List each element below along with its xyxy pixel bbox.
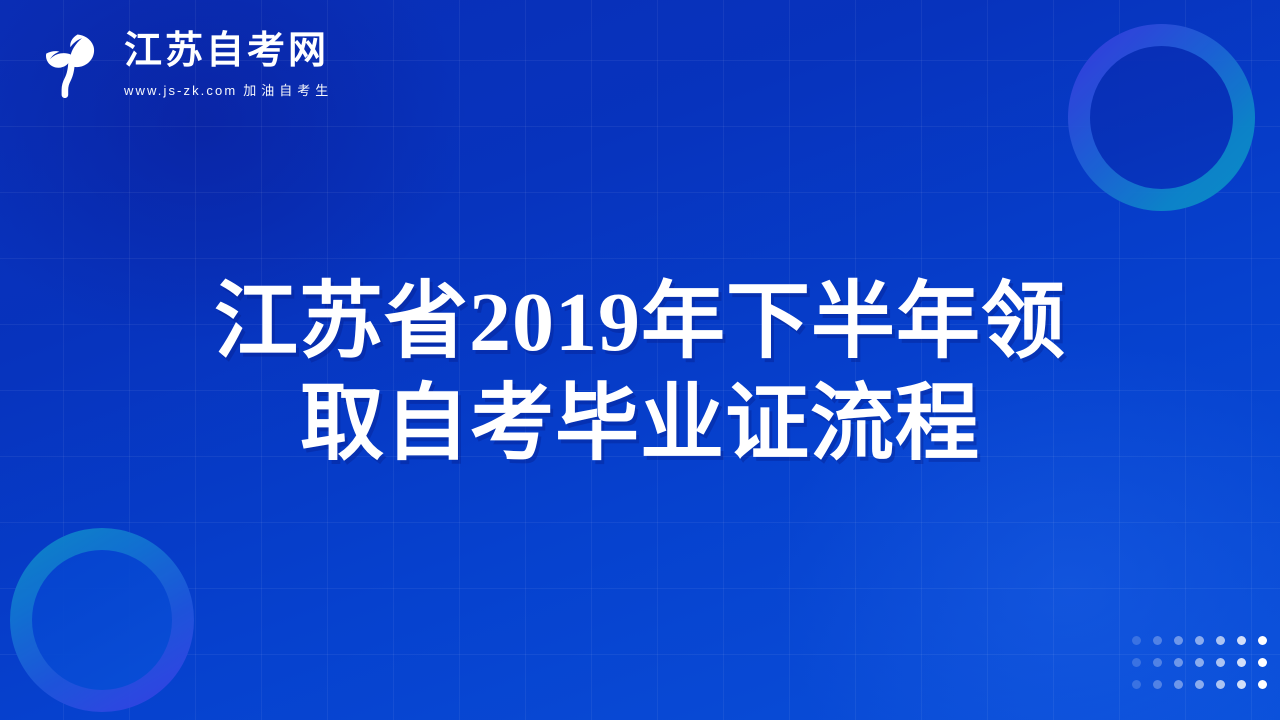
- page-title-line-1: 江苏省2019年下半年领: [150, 272, 1130, 374]
- logo-tagline-slogan: 加油自考生: [243, 83, 333, 98]
- ring-inner-mask: [1090, 46, 1233, 189]
- logo-tagline: www.js-zk.com加油自考生: [124, 80, 333, 99]
- logo-tagline-url: www.js-zk.com: [124, 83, 237, 98]
- page-title-line-2: 取自考毕业证流程: [150, 374, 1130, 476]
- decorative-ring-bottom-left: [10, 528, 194, 712]
- sprout-icon: [36, 28, 110, 102]
- decorative-dot-grid: [1132, 636, 1279, 702]
- logo-wordmark: 江苏自考网: [124, 31, 333, 72]
- poster-canvas: 江苏自考网 www.js-zk.com加油自考生 江苏省2019年下半年领 取自…: [0, 0, 1280, 720]
- page-title: 江苏省2019年下半年领 取自考毕业证流程: [0, 272, 1280, 477]
- site-logo[interactable]: 江苏自考网 www.js-zk.com加油自考生: [36, 28, 333, 102]
- ring-inner-mask: [32, 550, 172, 690]
- decorative-ring-top-right: [1068, 24, 1255, 211]
- logo-text-block: 江苏自考网 www.js-zk.com加油自考生: [124, 31, 333, 98]
